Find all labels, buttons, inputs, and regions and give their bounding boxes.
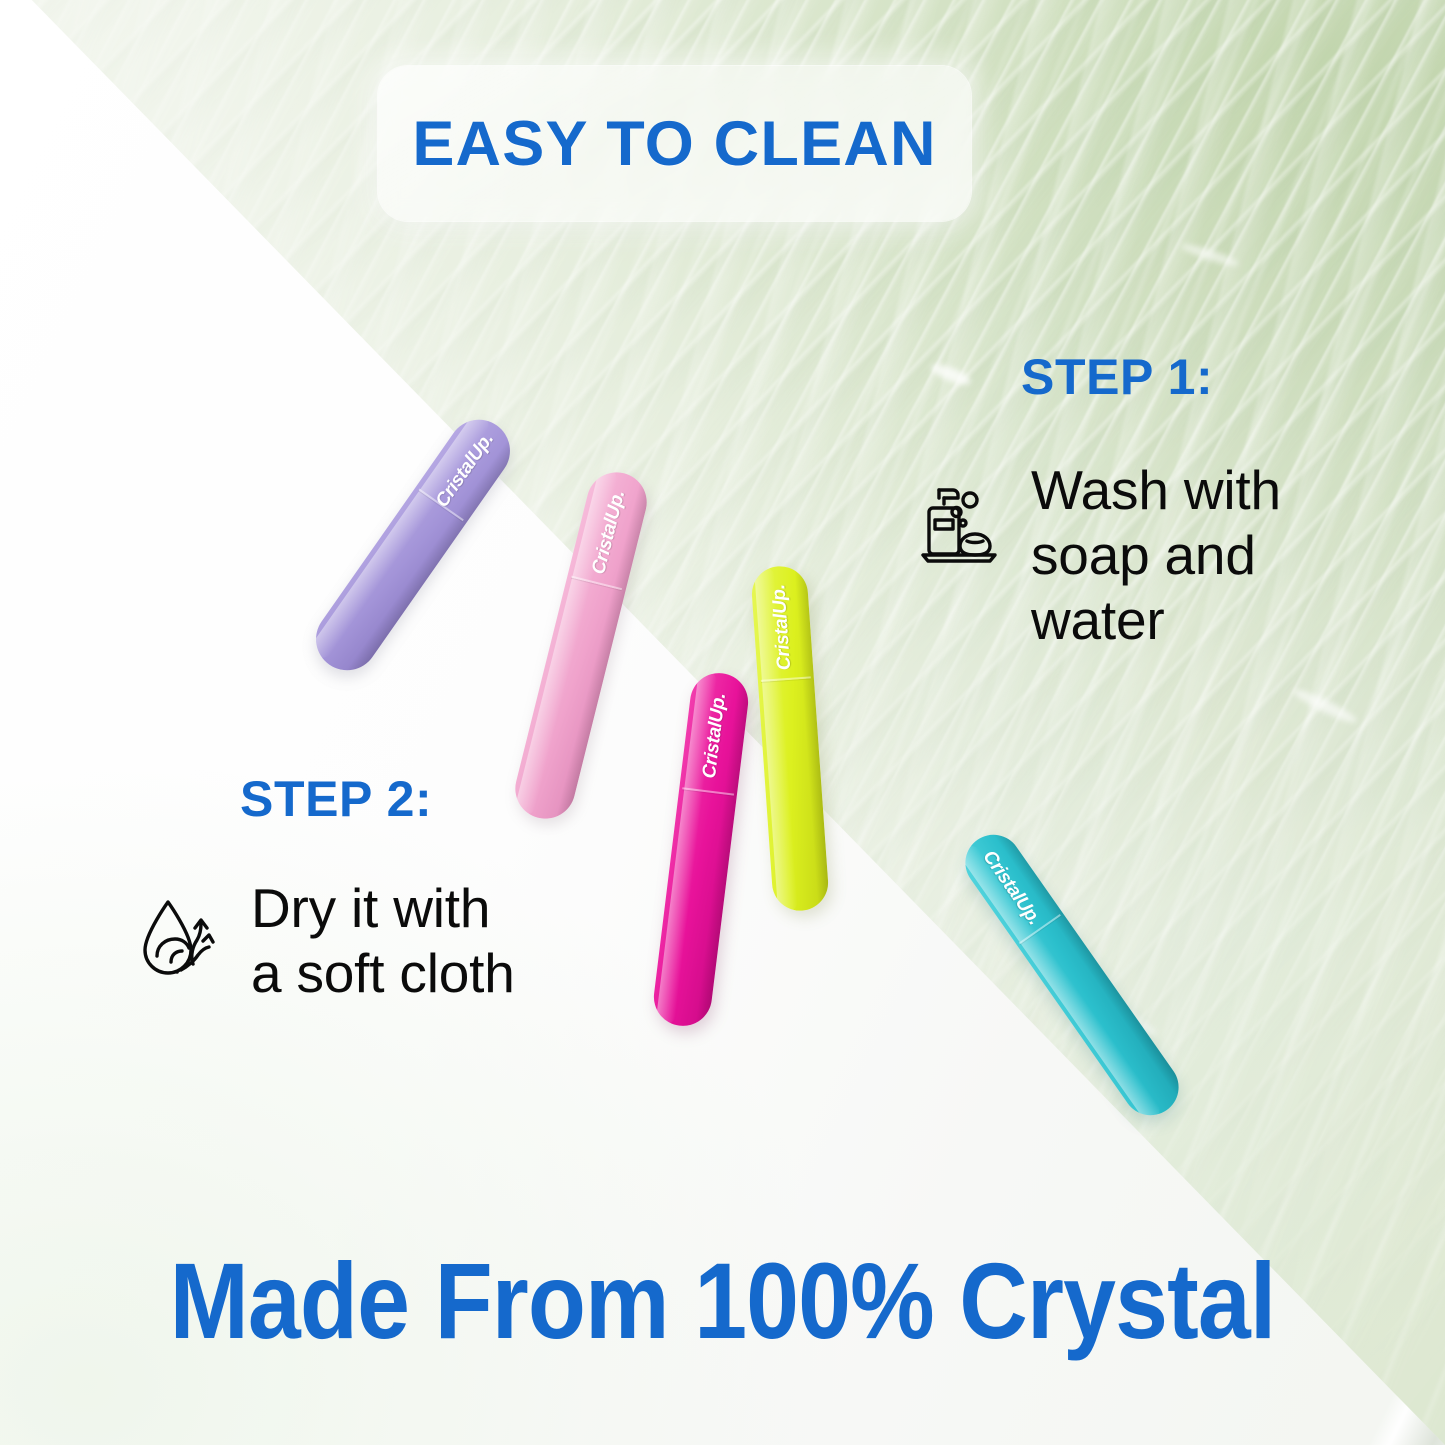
- headline-prefix: Made From: [170, 1240, 695, 1361]
- infographic-canvas: CristalUp. CristalUp. CristalUp. Cristal…: [0, 0, 1445, 1445]
- step-1-title: STEP 1:: [1021, 348, 1281, 406]
- step-2-body: Dry it with a soft cloth: [135, 876, 515, 1006]
- step-1-body: Wash with soap and water: [911, 458, 1281, 653]
- soap-dispenser-icon: [911, 476, 1007, 577]
- badge-label: EASY TO CLEAN: [412, 108, 936, 180]
- step-1-block: STEP 1:: [1021, 348, 1281, 653]
- headline-strong: 100% Crystal: [694, 1240, 1275, 1361]
- footer-headline: Made From 100% Crystal: [87, 1238, 1359, 1363]
- step-2-block: STEP 2: Dry it with a sof: [240, 770, 515, 1006]
- step-2-title: STEP 2:: [240, 770, 515, 828]
- step-2-text: Dry it with a soft cloth: [251, 876, 515, 1006]
- water-drop-evaporate-icon: [135, 892, 227, 989]
- easy-to-clean-badge: EASY TO CLEAN: [378, 66, 971, 221]
- step-1-text: Wash with soap and water: [1031, 458, 1281, 653]
